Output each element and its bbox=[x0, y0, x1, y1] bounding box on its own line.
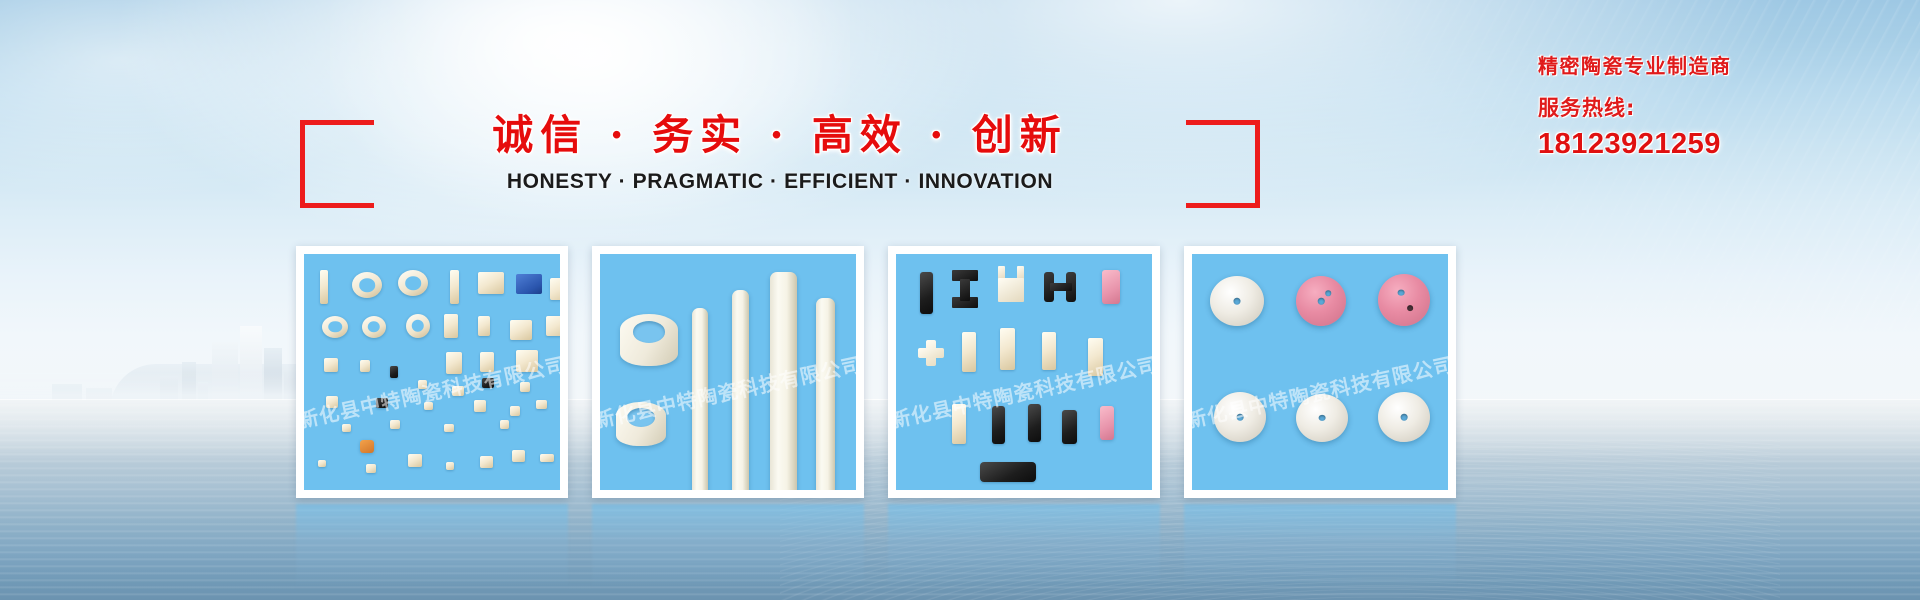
slogan-english: HONESTY · PRAGMATIC · EFFICIENT · INNOVA… bbox=[460, 170, 1100, 194]
bracket-right-decoration bbox=[1160, 120, 1260, 208]
product-panel-row: 新化县中特陶瓷科技有限公司 新化县中特陶瓷科技有限公司 bbox=[296, 246, 1560, 502]
hotline-label: 服务热线: bbox=[1538, 94, 1838, 122]
product-panel-2[interactable]: 新化县中特陶瓷科技有限公司 bbox=[592, 246, 864, 498]
product-image-ceramic-discs: 新化县中特陶瓷科技有限公司 bbox=[1192, 254, 1448, 490]
product-image-ceramic-rods: 新化县中特陶瓷科技有限公司 bbox=[600, 254, 856, 490]
slogan-block: 诚信 · 务实 · 高效 · 创新 HONESTY · PRAGMATIC · … bbox=[0, 104, 1560, 214]
slogan-chinese: 诚信 · 务实 · 高效 · 创新 bbox=[460, 104, 1100, 166]
product-panel-4[interactable]: 新化县中特陶瓷科技有限公司 bbox=[1184, 246, 1456, 498]
hero-banner: 诚信 · 务实 · 高效 · 创新 HONESTY · PRAGMATIC · … bbox=[0, 0, 1920, 600]
product-panel-1[interactable]: 新化县中特陶瓷科技有限公司 bbox=[296, 246, 568, 498]
company-tagline: 精密陶瓷专业制造商 bbox=[1538, 52, 1838, 80]
contact-block: 精密陶瓷专业制造商 服务热线: 18123921259 bbox=[1538, 52, 1838, 162]
product-panel-3[interactable]: 新化县中特陶瓷科技有限公司 bbox=[888, 246, 1160, 498]
hotline-number[interactable]: 18123921259 bbox=[1538, 126, 1838, 162]
product-image-ceramic-blocks: 新化县中特陶瓷科技有限公司 bbox=[896, 254, 1152, 490]
bracket-left-decoration bbox=[300, 120, 400, 208]
product-image-smd-components: 新化县中特陶瓷科技有限公司 bbox=[304, 254, 560, 490]
